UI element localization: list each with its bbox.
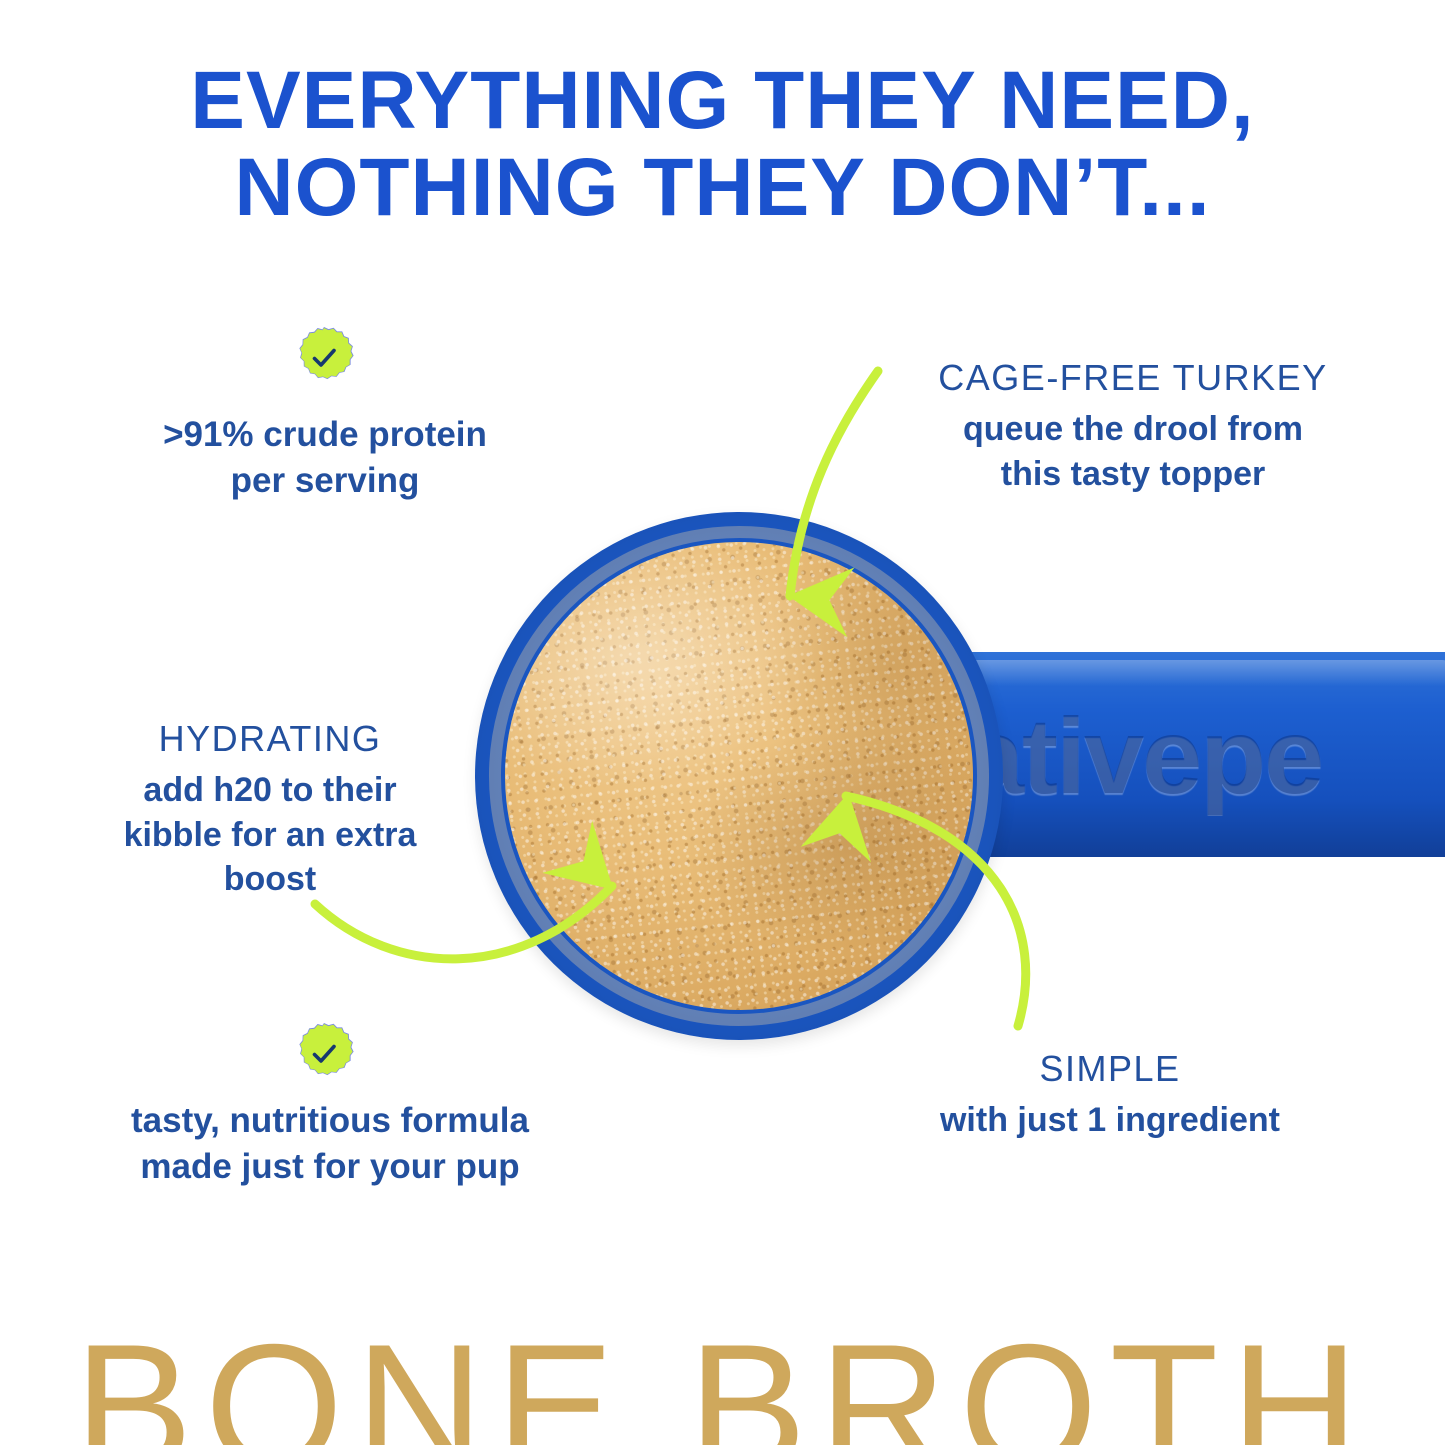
callout-hydrating: HYDRATING add h20 to their kibble for an… [60, 718, 480, 901]
callout-hydrating-title: HYDRATING [60, 718, 480, 760]
callout-simple: SIMPLE with just 1 ingredient [900, 1048, 1320, 1143]
callout-tasty-formula-body: tasty, nutritious formula made just for … [80, 1098, 580, 1189]
product-wordmark: BONE BROTH [0, 1318, 1445, 1445]
page-title: EVERYTHING THEY NEED, NOTHING THEY DON’T… [0, 58, 1445, 232]
infographic-canvas: EVERYTHING THEY NEED, NOTHING THEY DON’T… [0, 0, 1445, 1445]
callout-simple-body: with just 1 ingredient [900, 1098, 1320, 1142]
callout-cage-free-turkey-title: CAGE-FREE TURKEY [888, 357, 1378, 399]
check-badge-icon [289, 1018, 359, 1088]
callout-protein: >91% crude protein per serving [95, 412, 555, 503]
scoop-bowl [449, 486, 1029, 1066]
callout-hydrating-body: add h20 to their kibble for an extra boo… [60, 768, 480, 901]
callout-simple-title: SIMPLE [900, 1048, 1320, 1090]
callout-tasty-formula: tasty, nutritious formula made just for … [80, 1098, 580, 1189]
product-image-scoop: nativepe [455, 500, 1445, 1060]
callout-cage-free-turkey: CAGE-FREE TURKEY queue the drool from th… [888, 357, 1378, 496]
callout-cage-free-turkey-body: queue the drool from this tasty topper [888, 407, 1378, 495]
callout-protein-body: >91% crude protein per serving [95, 412, 555, 503]
check-badge-icon [289, 322, 359, 392]
